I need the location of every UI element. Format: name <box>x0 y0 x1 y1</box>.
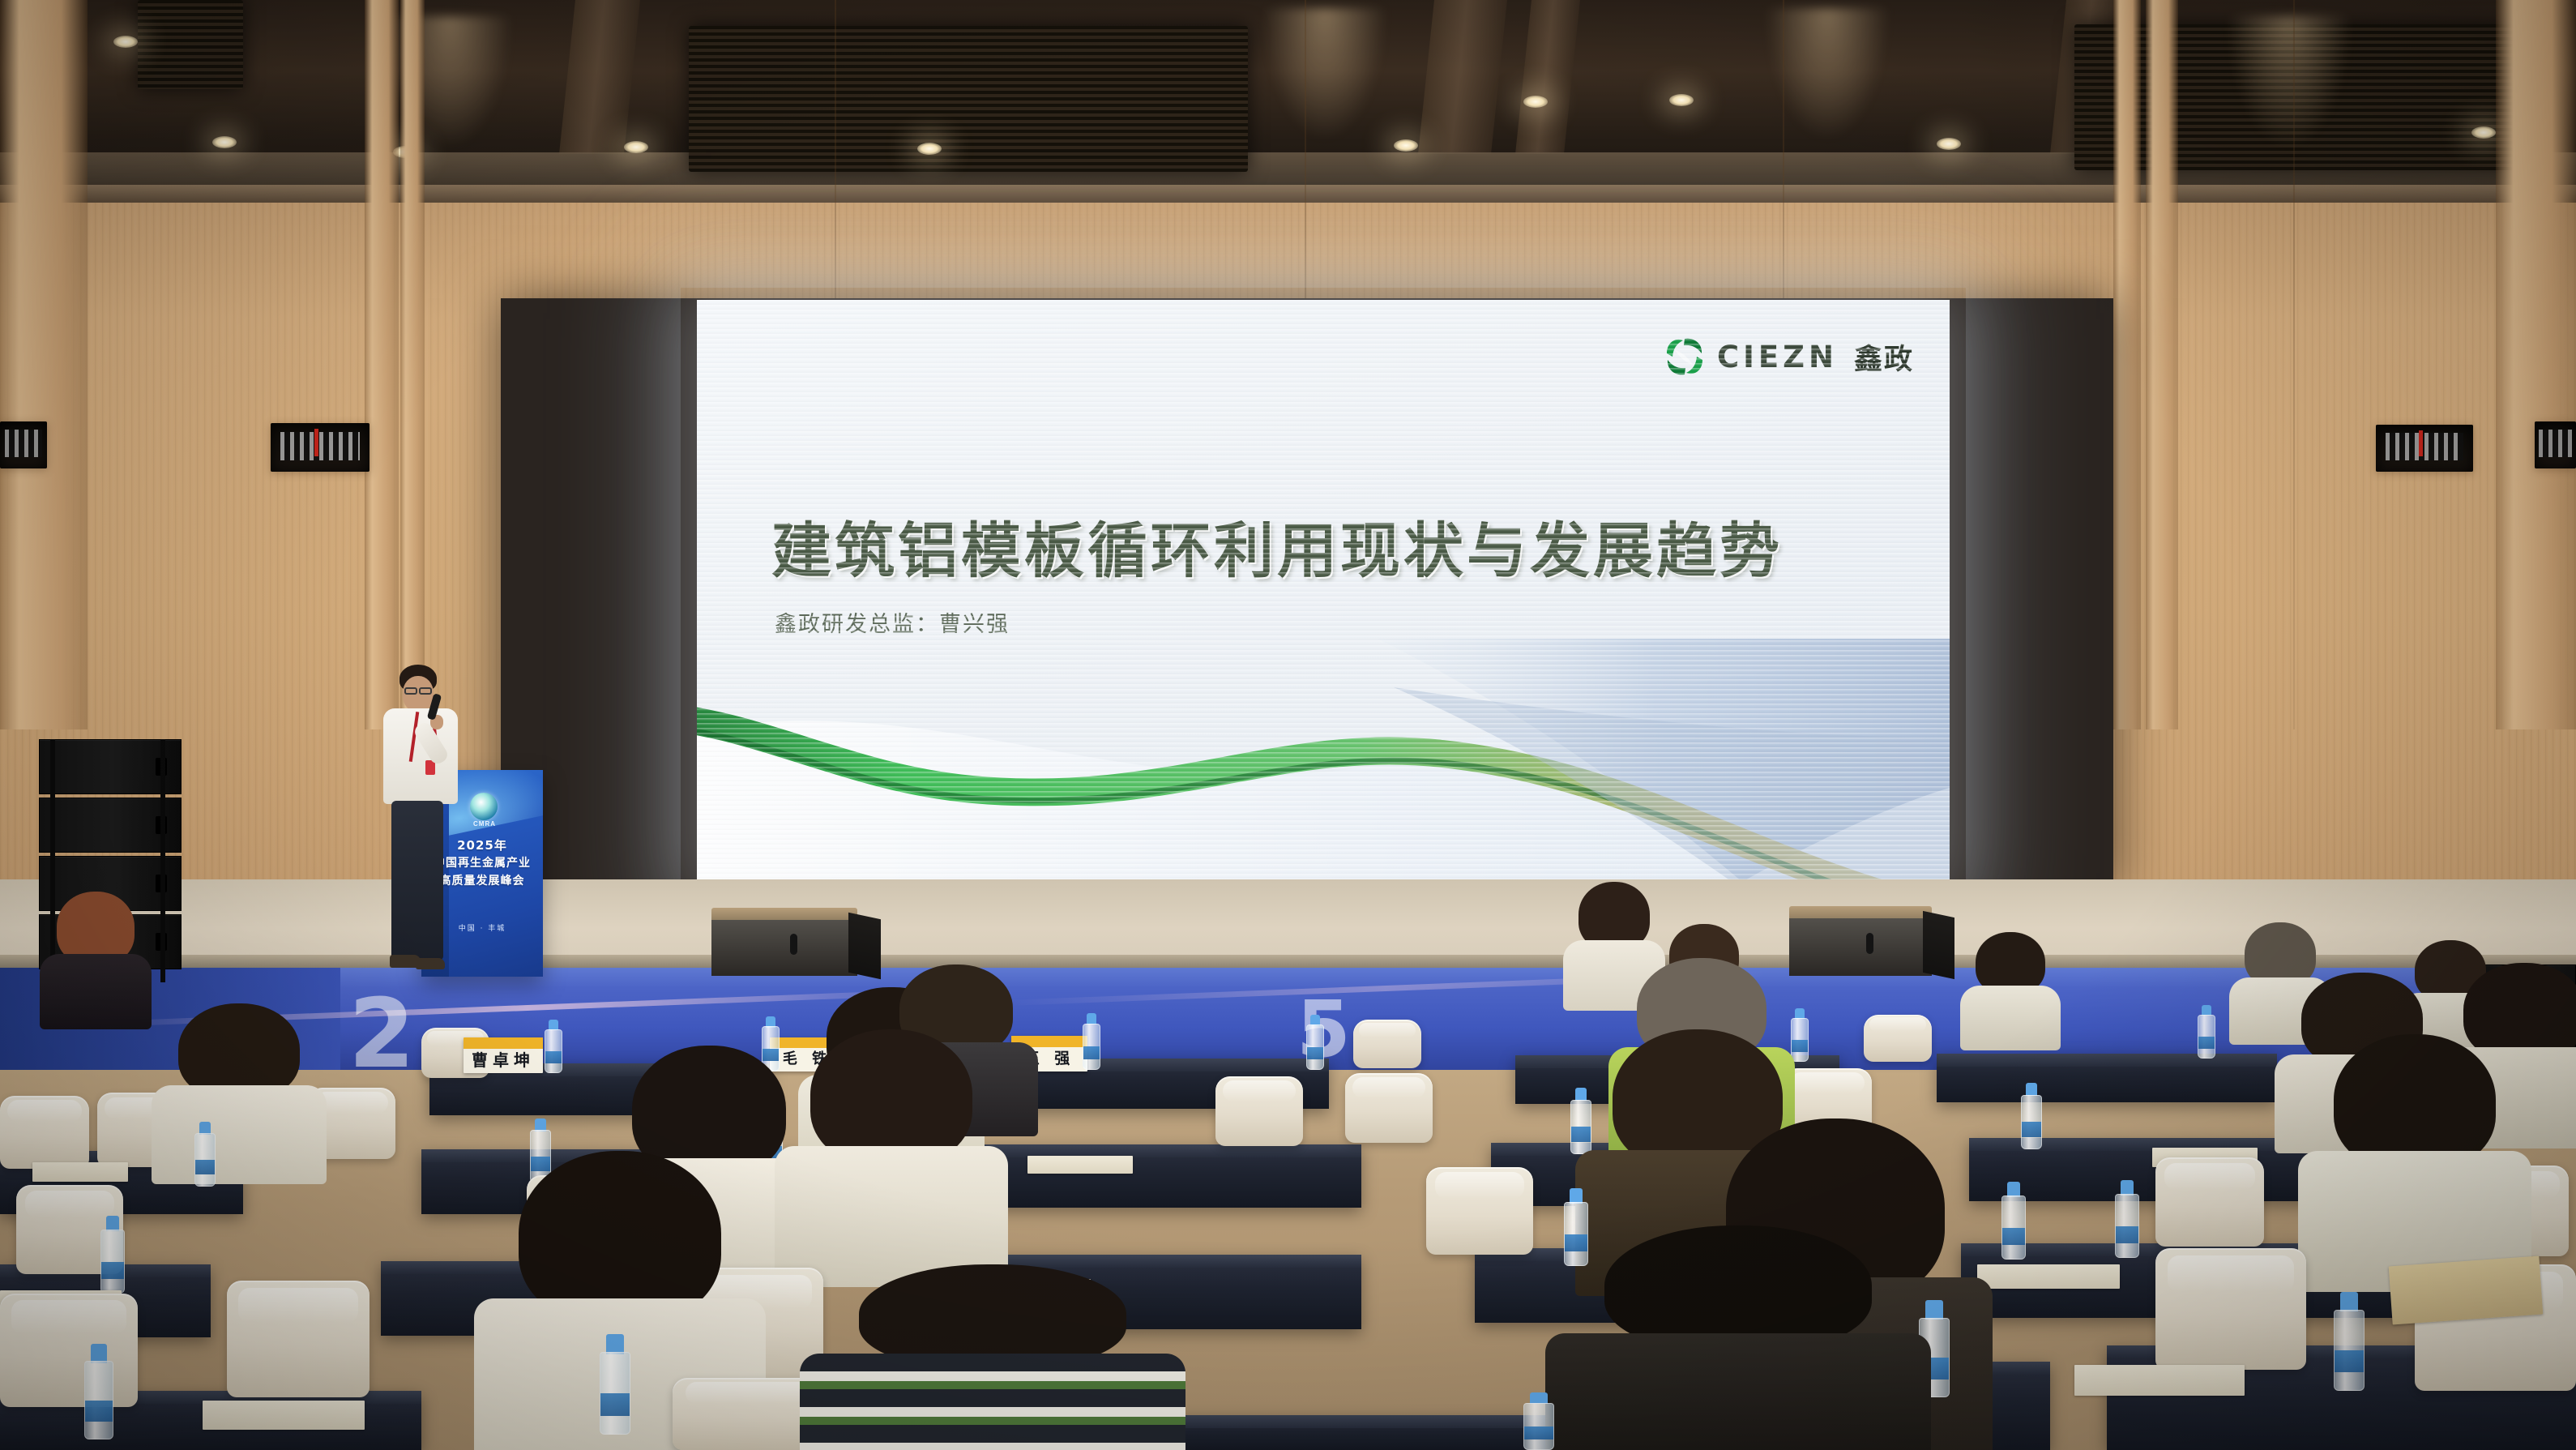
wall-pilaster <box>2146 0 2178 729</box>
water-bottle <box>2001 1182 2026 1260</box>
audience-chair <box>1426 1167 1533 1255</box>
ceiling-wallwash <box>1264 8 1386 138</box>
niche-slats <box>280 432 360 460</box>
ceiling-downlight <box>1669 94 1694 106</box>
audience-head <box>178 1003 300 1099</box>
audience-member <box>859 1264 1126 1450</box>
water-bottle <box>1306 1015 1324 1070</box>
slide-subtitle: 鑫政研发总监：曹兴强 <box>775 606 1010 638</box>
niche-slats <box>5 430 42 457</box>
logo-latin-text: CIEZN <box>1717 340 1838 374</box>
audience-chair <box>1345 1073 1433 1143</box>
logo-chinese-text: 鑫政 <box>1854 336 1914 378</box>
wall-pilaster <box>2113 0 2141 729</box>
niche-accent <box>2419 430 2423 456</box>
audience-member <box>1604 1225 1872 1450</box>
water-bottle <box>194 1122 216 1187</box>
ceiling-downlight <box>2471 126 2496 139</box>
wall-niche <box>2376 425 2473 472</box>
handout-paper <box>203 1401 365 1430</box>
wall-pilaster <box>2496 0 2576 729</box>
stage-monitor-right <box>1789 906 1932 976</box>
handout-paper <box>1977 1264 2120 1289</box>
monitor-side <box>848 913 881 979</box>
wall-pilaster <box>0 0 88 729</box>
audience-torso-striped <box>800 1354 1185 1450</box>
wall-pilaster <box>400 0 425 729</box>
audience-chair <box>2155 1157 2264 1247</box>
presenter-glasses-icon <box>419 687 432 695</box>
ceiling-vent <box>689 26 1248 172</box>
niche-slats <box>2386 433 2463 460</box>
wall-niche <box>271 423 370 472</box>
niche-slats <box>2539 430 2572 457</box>
ceiling-downlight <box>624 141 648 153</box>
ceiling-downlight <box>1937 138 1961 150</box>
ciezn-leaf-mark-icon <box>1664 336 1706 378</box>
presentation-slide: CIEZN 鑫政 建筑铝模板循环利用现状与发展趋势 鑫政研发总监：曹兴强 <box>697 300 1950 890</box>
table-row <box>956 1144 1361 1208</box>
water-bottle <box>2115 1180 2139 1258</box>
audience-chair <box>1215 1076 1303 1146</box>
presenter-shoe <box>416 958 445 969</box>
water-bottle <box>1564 1188 1588 1266</box>
water-bottle <box>1083 1013 1100 1070</box>
water-bottle <box>1523 1392 1554 1450</box>
ceiling-wallwash <box>2228 16 2350 146</box>
water-bottle <box>2021 1083 2042 1149</box>
presenter-trousers <box>391 801 443 960</box>
water-bottle <box>84 1344 113 1439</box>
audience-chair <box>1353 1020 1421 1068</box>
cmra-logo-icon <box>470 793 498 820</box>
water-bottle <box>2334 1292 2365 1391</box>
audience-chair <box>1864 1015 1932 1062</box>
presenter-glasses-icon <box>404 687 417 695</box>
water-bottle <box>100 1216 125 1294</box>
water-bottle <box>545 1020 562 1073</box>
audience-torso <box>152 1085 327 1184</box>
audience-chair <box>0 1294 138 1407</box>
wall-niche <box>0 421 47 468</box>
audience-head <box>2334 1034 2496 1170</box>
water-bottle <box>1791 1008 1809 1062</box>
wall-seam <box>2293 0 2295 729</box>
ceiling-downlight <box>113 36 138 48</box>
ceiling-downlight <box>1394 139 1418 152</box>
table-row <box>1937 1054 2277 1102</box>
table-name-card: 曹卓坤 <box>464 1037 543 1073</box>
audience-member <box>810 1029 972 1272</box>
audience-head <box>859 1264 1126 1368</box>
handout-paper <box>32 1162 128 1182</box>
line-array-rail <box>160 739 165 982</box>
audience-torso <box>1960 986 2061 1050</box>
ceiling-downlight <box>1523 96 1548 108</box>
slide-logo: CIEZN 鑫政 <box>1664 336 1914 378</box>
stage-monitor-left <box>711 908 857 976</box>
conference-hall-photo: CIEZN 鑫政 建筑铝模板循环利用现状与发展趋势 鑫政研发总监：曹兴强 <box>0 0 2576 1450</box>
niche-accent <box>314 429 318 456</box>
ceiling-vent <box>138 0 243 89</box>
slide-wave-graphic <box>697 639 1950 890</box>
ceiling-wallwash <box>1766 8 1888 138</box>
monitor-body <box>711 920 857 976</box>
monitor-handle <box>1866 933 1873 954</box>
audience-torso <box>40 954 152 1029</box>
handout-paper <box>1027 1156 1133 1174</box>
name-card-header-strip <box>464 1037 543 1049</box>
name-card-name: 曹卓坤 <box>464 1048 543 1072</box>
line-array-rail <box>50 739 55 982</box>
audience-torso <box>1545 1333 1930 1450</box>
monitor-body <box>1789 918 1932 976</box>
audience-head <box>1604 1225 1872 1351</box>
handout-folder <box>2389 1256 2544 1325</box>
presenter <box>369 665 474 981</box>
audience-chair <box>0 1096 89 1169</box>
audience-chair <box>227 1281 370 1397</box>
water-bottle <box>1570 1088 1591 1154</box>
slide-title: 建筑铝模板循环利用现状与发展趋势 <box>771 503 1906 589</box>
led-graphic-glyph: 2 <box>348 977 415 1070</box>
audience-member <box>2334 1034 2496 1277</box>
audience-chair <box>2155 1248 2306 1370</box>
monitor-side <box>1923 911 1954 979</box>
audience-head <box>810 1029 972 1166</box>
audience-member <box>57 892 135 1021</box>
water-bottle <box>2198 1005 2215 1059</box>
handout-paper <box>2074 1365 2245 1396</box>
ceiling-downlight <box>212 136 237 148</box>
audience-head <box>519 1151 721 1324</box>
wall-pilaster <box>365 0 399 729</box>
wall-niche <box>2535 421 2576 468</box>
water-bottle <box>600 1334 630 1435</box>
ceiling-downlight <box>917 143 942 155</box>
monitor-handle <box>790 934 797 955</box>
audience-member <box>1976 932 2045 1044</box>
